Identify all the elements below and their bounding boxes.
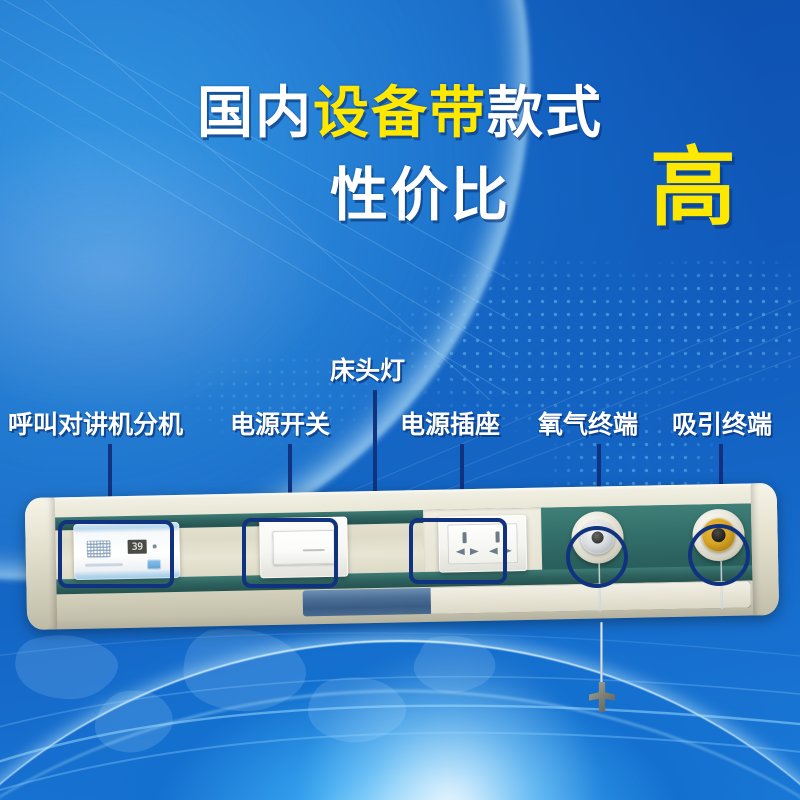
- callout-label-oxygen-outlet: 氧气终端: [538, 412, 638, 437]
- headline-part-1: 国内: [197, 81, 313, 146]
- product-banner: 国内设备带款式 性价比 高 呼叫对讲机分机 电源开关 床头灯 电源插座 氧气终端…: [0, 0, 800, 800]
- callout-label-call-intercom: 呼叫对讲机分机: [8, 412, 183, 437]
- headline-emphasis: 高: [650, 145, 736, 231]
- callout-label-bed-lamp: 床头灯: [330, 358, 405, 383]
- headline-line-2: 性价比: [330, 166, 510, 224]
- headline-part-2: 设备带: [313, 81, 487, 146]
- headline-part-3: 款式: [487, 81, 603, 146]
- light-streaks: [0, 600, 800, 800]
- highlight-box-power-socket: [409, 518, 507, 584]
- callout-label-power-switch: 电源开关: [230, 412, 330, 437]
- callout-label-power-socket: 电源插座: [400, 412, 500, 437]
- headline-line-1: 国内设备带款式: [0, 86, 800, 142]
- highlight-circle-suction: [688, 524, 750, 586]
- highlight-box-call-intercom: [58, 520, 174, 588]
- panel-end-cap-left: [25, 494, 58, 630]
- callout-label-suction-outlet: 吸引终端: [672, 412, 772, 437]
- panel-end-cap-right: [750, 483, 779, 618]
- headline-block: 国内设备带款式 性价比 高: [0, 0, 800, 260]
- highlight-circle-oxygen: [566, 526, 628, 588]
- highlight-box-power-switch: [242, 518, 338, 588]
